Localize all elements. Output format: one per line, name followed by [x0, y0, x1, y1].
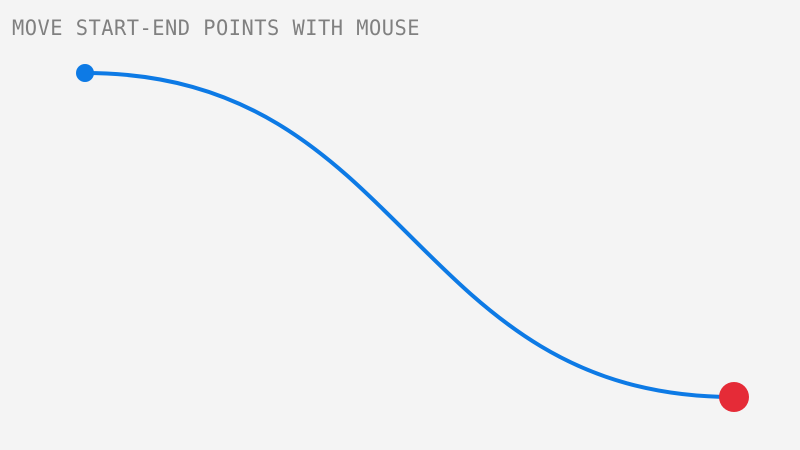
bezier-svg — [0, 0, 800, 450]
canvas-app: MOVE START-END POINTS WITH MOUSE — [0, 0, 800, 450]
start-point-handle[interactable] — [76, 64, 94, 82]
bezier-canvas[interactable] — [0, 0, 800, 450]
end-point-handle[interactable] — [719, 382, 749, 412]
page-title: MOVE START-END POINTS WITH MOUSE — [12, 16, 420, 40]
